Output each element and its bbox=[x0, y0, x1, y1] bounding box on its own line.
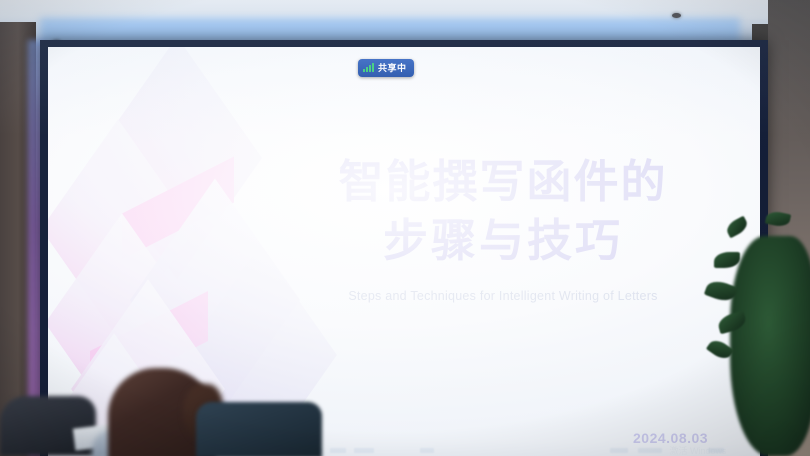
taskbar-item[interactable] bbox=[354, 448, 374, 453]
foreground-chair-right bbox=[196, 402, 322, 456]
screenshot-root: 智能撰写函件的 步骤与技巧 Steps and Techniques for I… bbox=[0, 0, 810, 456]
taskbar-item[interactable] bbox=[330, 448, 346, 453]
plant-leaf bbox=[724, 216, 750, 239]
slide-title-line-1: 智能撰写函件的 bbox=[288, 152, 718, 211]
signal-bars-icon bbox=[363, 63, 374, 72]
slide-title-block: 智能撰写函件的 步骤与技巧 Steps and Techniques for I… bbox=[288, 152, 718, 303]
slide-subtitle: Steps and Techniques for Intelligent Wri… bbox=[288, 289, 718, 303]
slide-title-line-2: 步骤与技巧 bbox=[288, 211, 718, 270]
plant-foliage bbox=[730, 236, 810, 456]
taskbar-item[interactable] bbox=[638, 448, 662, 453]
isometric-cubes-graphic bbox=[48, 77, 294, 417]
plant-leaf bbox=[714, 252, 740, 268]
taskbar-item[interactable] bbox=[610, 448, 628, 453]
taskbar-item[interactable] bbox=[420, 448, 434, 453]
sharing-status-label: 共享中 bbox=[378, 61, 407, 74]
ceiling-spotlight-right bbox=[672, 13, 681, 18]
sharing-status-badge[interactable]: 共享中 bbox=[358, 59, 414, 77]
potted-plant bbox=[712, 214, 810, 456]
